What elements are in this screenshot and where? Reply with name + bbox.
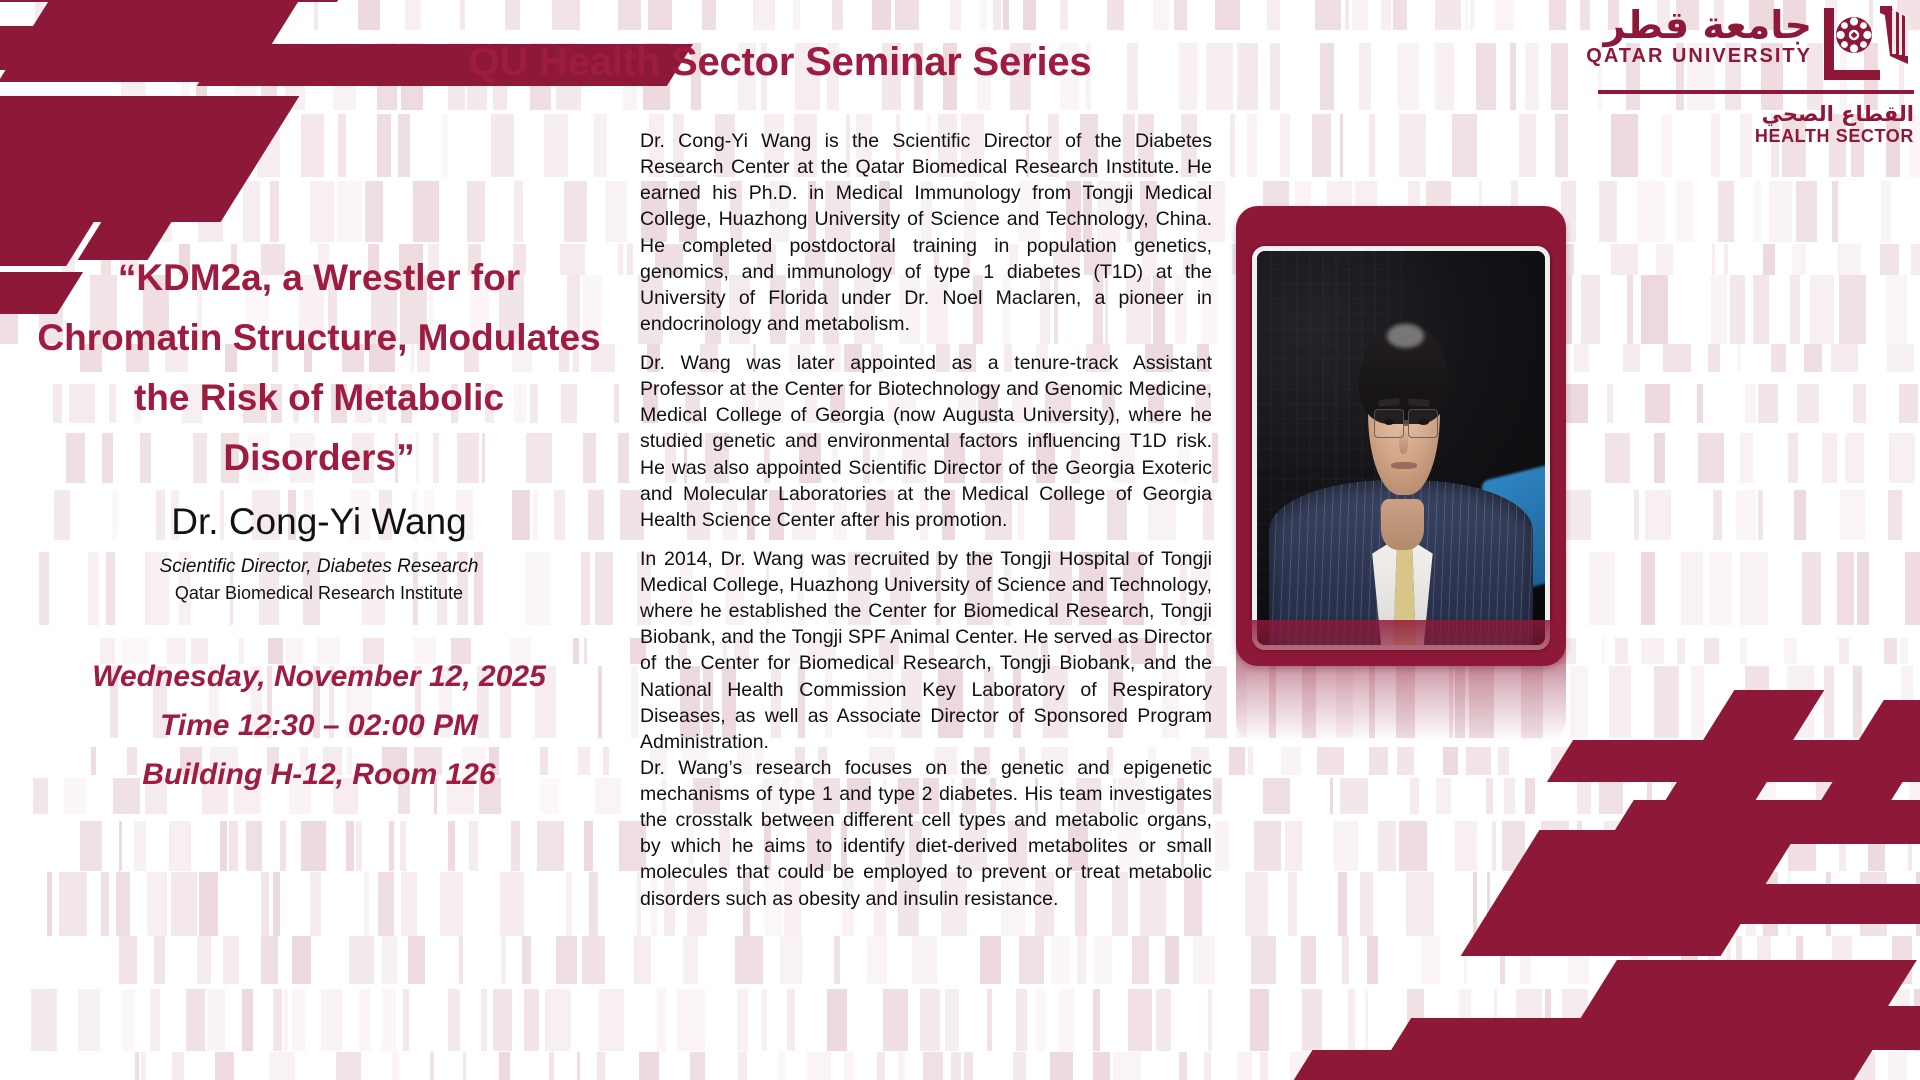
ribbon-band xyxy=(1543,960,1917,1078)
ribbon-band xyxy=(1746,1006,1920,1050)
page-title: QU Health Sector Seminar Series xyxy=(380,40,1180,84)
bio-paragraph: In 2014, Dr. Wang was recruited by the T… xyxy=(640,546,1212,755)
speaker-biography: Dr. Cong-Yi Wang is the Scientific Direc… xyxy=(640,128,1212,912)
university-name-english: QATAR UNIVERSITY xyxy=(1586,45,1812,68)
logo-divider-rule xyxy=(1598,90,1914,94)
health-sector-arabic: القطاع الصحي xyxy=(1584,103,1914,125)
seminar-poster: QU Health Sector Seminar Series جامعة قط… xyxy=(0,0,1920,1080)
bio-paragraph: Dr. Wang’s research focuses on the genet… xyxy=(640,755,1212,912)
event-time: Time 12:30 – 02:00 PM xyxy=(34,702,604,751)
talk-title: “KDM2a, a Wrestler for Chromatin Structu… xyxy=(34,248,604,488)
ribbon-band xyxy=(1688,884,1920,924)
ribbon-band xyxy=(1606,800,1920,844)
event-details: Wednesday, November 12, 2025 Time 12:30 … xyxy=(34,653,604,799)
bio-paragraph: Dr. Cong-Yi Wang is the Scientific Direc… xyxy=(640,128,1212,337)
speaker-name: Dr. Cong-Yi Wang xyxy=(34,502,604,543)
speaker-role: Scientific Director, Diabetes Research xyxy=(34,555,604,579)
ribbon-band xyxy=(1666,690,1825,800)
talk-info-column: “KDM2a, a Wrestler for Chromatin Structu… xyxy=(34,248,604,799)
qatar-university-emblem-icon xyxy=(1818,4,1914,84)
ribbon-band xyxy=(0,26,154,70)
ribbon-band xyxy=(0,0,363,2)
ribbon-band xyxy=(1461,830,1800,956)
speaker-organization: Qatar Biomedical Research Institute xyxy=(34,581,604,605)
bio-paragraph: Dr. Wang was later appointed as a tenure… xyxy=(640,350,1212,533)
ribbon-band xyxy=(0,104,12,144)
ribbon-band xyxy=(0,0,328,82)
university-name-arabic: جامعة قطر xyxy=(1586,6,1812,44)
ribbon-band xyxy=(1385,1018,1641,1060)
ribbon-band xyxy=(1796,700,1920,840)
event-date: Wednesday, November 12, 2025 xyxy=(34,653,604,702)
ribbon-band xyxy=(1547,740,1920,782)
ribbon-band xyxy=(0,96,299,222)
ribbon-band xyxy=(78,150,217,260)
health-sector-english: HEALTH SECTOR xyxy=(1584,126,1914,147)
event-venue: Building H-12, Room 126 xyxy=(34,751,604,800)
qatar-university-logo: جامعة قطر QATAR UNIVERSITY xyxy=(1584,4,1914,147)
speaker-portrait xyxy=(1252,246,1550,650)
ribbon-band xyxy=(1288,1050,1873,1080)
speaker-portrait-card xyxy=(1236,206,1566,666)
